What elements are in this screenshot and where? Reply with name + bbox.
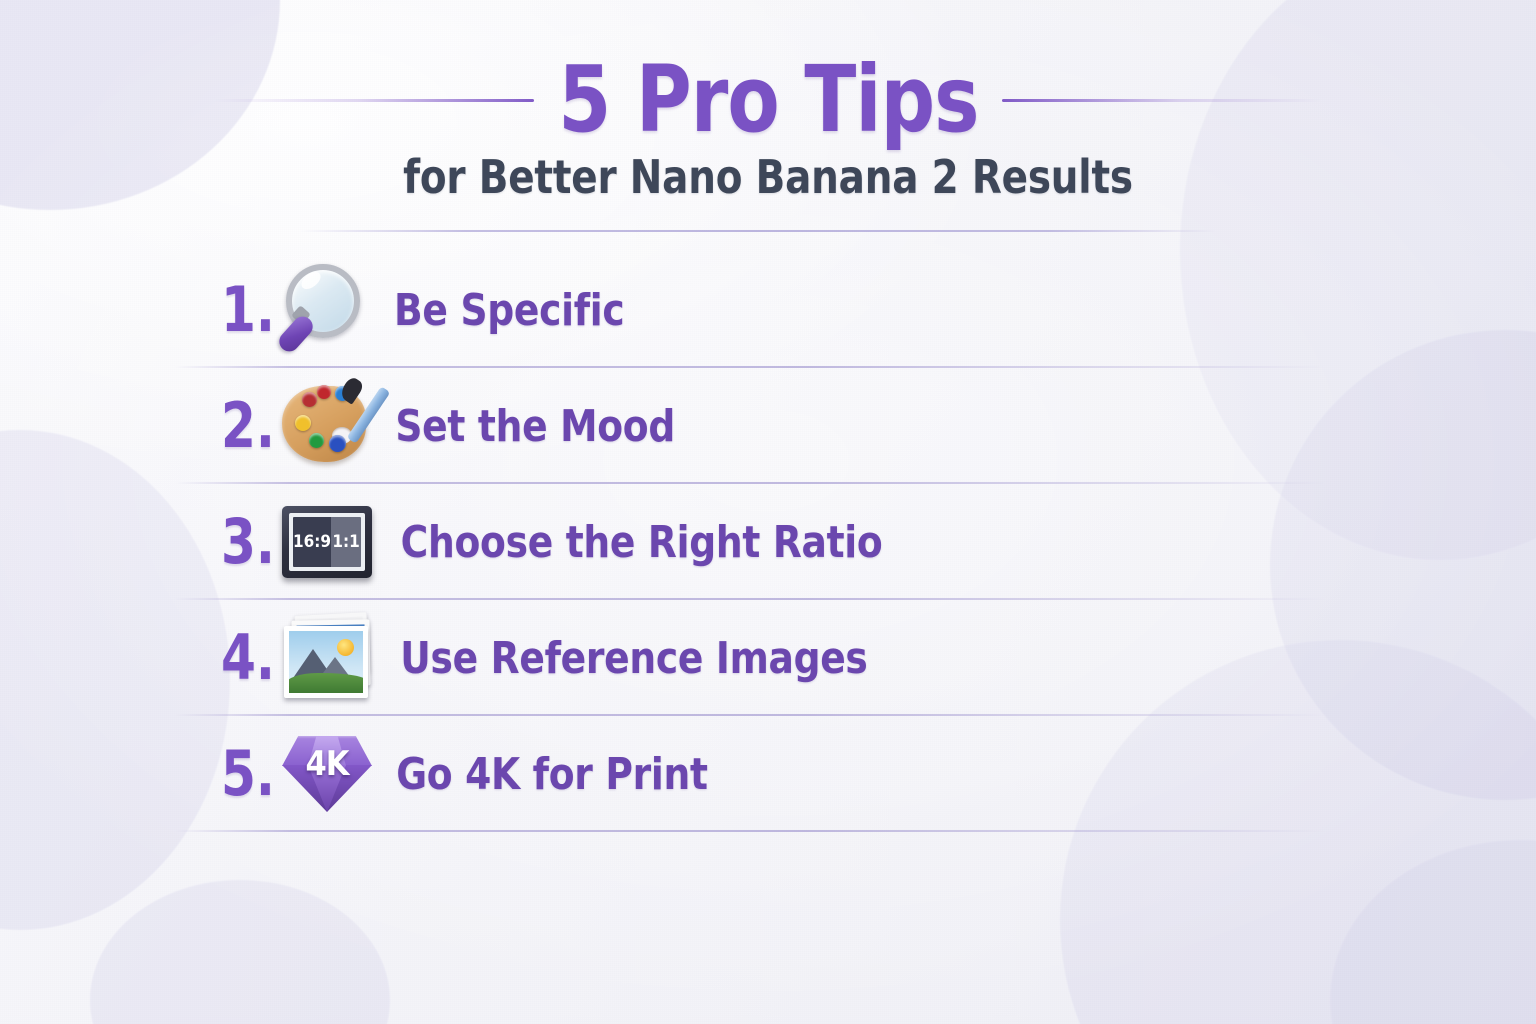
gem-shape: 4K bbox=[282, 736, 372, 812]
infographic-canvas: 5 Pro Tips for Better Nano Banana 2 Resu… bbox=[0, 0, 1536, 1024]
artist-palette-icon bbox=[280, 378, 376, 474]
gem-4k-label: 4K bbox=[282, 744, 372, 784]
palette-dot-green bbox=[309, 433, 324, 448]
photo-front bbox=[284, 626, 368, 698]
title-rule-left bbox=[214, 99, 534, 102]
tip-number-2: 2. bbox=[221, 395, 275, 457]
page-title: 5 Pro Tips bbox=[558, 56, 978, 143]
palette-dot-crimson bbox=[317, 385, 331, 399]
tip-label-1: Be Specific bbox=[394, 285, 624, 336]
list-item: 1. Be Specific bbox=[0, 252, 1536, 368]
tip-content-4: 4. Use Reference Images bbox=[218, 600, 880, 716]
photo-scene bbox=[289, 631, 363, 693]
stacked-photos-icon bbox=[280, 610, 376, 706]
tip-number-3: 3. bbox=[221, 511, 275, 573]
list-item: 4. Use Reference Images bbox=[0, 600, 1536, 716]
list-item: 2. Set the Mood bbox=[0, 368, 1536, 484]
gem-4k-icon: 4K bbox=[280, 726, 376, 822]
tip-label-4: Use Reference Images bbox=[400, 633, 867, 684]
list-item: 5. 4K Go 4K for Print bbox=[0, 716, 1536, 832]
tip-number-4: 4. bbox=[221, 627, 275, 689]
palette-dot-indigo bbox=[329, 435, 346, 452]
framed-aspect-ratio-icon: 16:9 1:1 bbox=[280, 494, 376, 590]
grass-hill bbox=[289, 673, 363, 693]
palette-dot-yellow bbox=[295, 415, 311, 431]
frame-screen: 16:9 1:1 bbox=[293, 517, 361, 567]
tip-content-5: 5. 4K Go 4K for Print bbox=[218, 716, 716, 832]
page-subtitle: for Better Nano Banana 2 Results bbox=[46, 150, 1490, 204]
tip-content-3: 3. 16:9 1:1 Choose the Right Ratio bbox=[218, 484, 895, 600]
tip-label-5: Go 4K for Print bbox=[396, 749, 707, 800]
tip-label-2: Set the Mood bbox=[395, 401, 675, 452]
tip-content-1: 1. Be Specific bbox=[218, 252, 630, 368]
magnifying-glass-icon bbox=[280, 262, 376, 358]
tip-number-5: 5. bbox=[221, 743, 275, 805]
tip-label-3: Choose the Right Ratio bbox=[401, 517, 883, 568]
title-rule-right bbox=[1002, 99, 1322, 102]
ratio-label-16-9: 16:9 bbox=[293, 517, 331, 567]
sun-icon bbox=[337, 639, 354, 656]
tip-number-1: 1. bbox=[221, 279, 275, 341]
tips-list: 1. Be Specific 2. bbox=[0, 252, 1536, 832]
ratio-label-1-1: 1:1 bbox=[331, 517, 361, 567]
subtitle-divider bbox=[300, 230, 1216, 232]
tip-content-2: 2. Set the Mood bbox=[218, 368, 682, 484]
title-row: 5 Pro Tips bbox=[0, 40, 1536, 160]
tip-divider-5 bbox=[175, 830, 1325, 832]
list-item: 3. 16:9 1:1 Choose the Right Ratio bbox=[0, 484, 1536, 600]
palette-dot-red bbox=[302, 392, 317, 407]
